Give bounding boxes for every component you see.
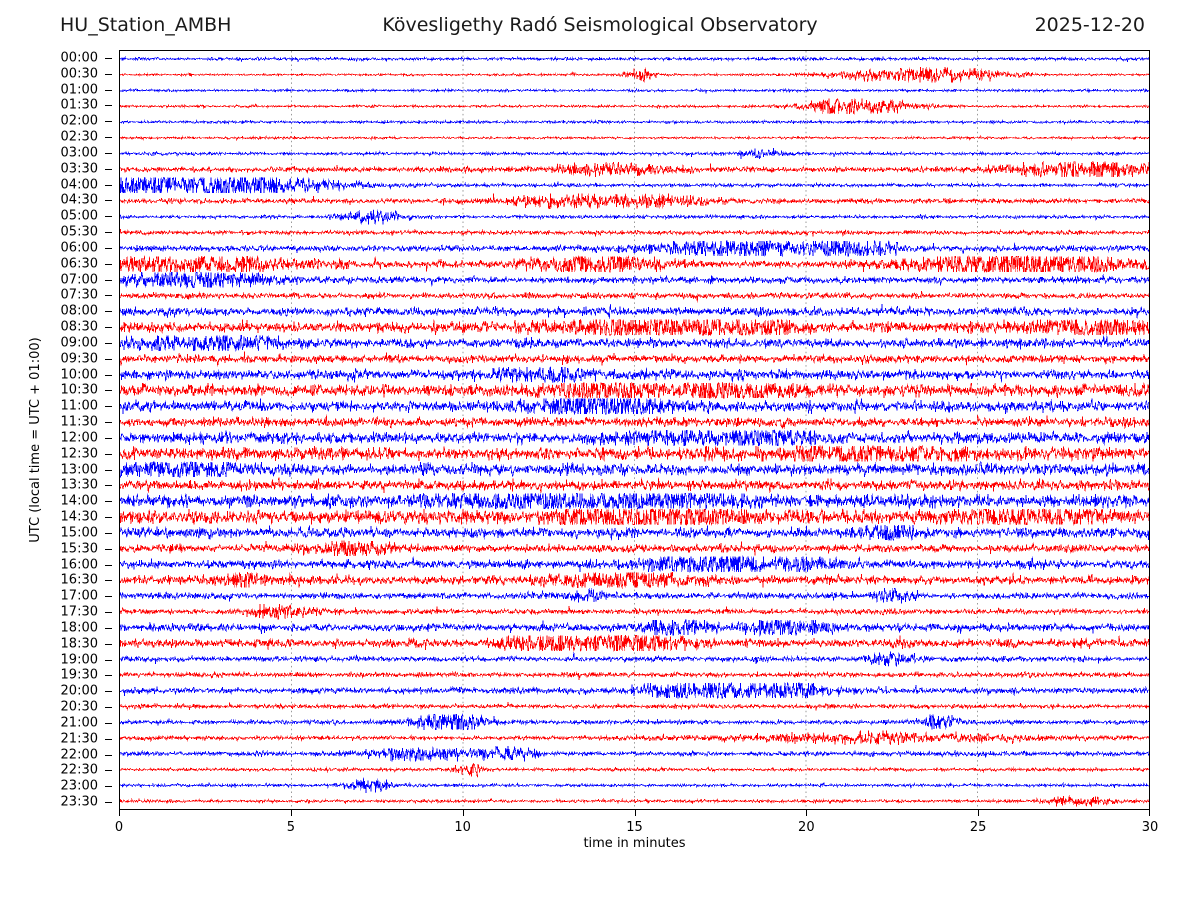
y-axis-tick-labels: 00:0000:3001:0001:3002:0002:3003:0003:30… [0,50,112,810]
x-tick-label: 15 [626,820,643,835]
seismic-trace [120,88,1149,93]
y-tick-label: 06:00 [61,241,98,254]
seismic-trace [120,178,1149,193]
y-tick-mark [105,375,112,376]
y-tick-mark [105,580,112,581]
seismic-trace [120,651,1149,666]
y-tick-mark [105,58,112,59]
y-tick-label: 17:00 [61,590,98,603]
x-tick-label: 10 [454,820,471,835]
y-tick-label: 01:30 [61,99,98,112]
y-tick-label: 03:00 [61,146,98,159]
y-tick-label: 19:00 [61,653,98,666]
y-tick-label: 05:30 [61,226,98,239]
y-tick-mark [105,454,112,455]
y-tick-label: 22:30 [61,764,98,777]
y-tick-label: 23:30 [61,796,98,809]
x-tick-label: 30 [1142,820,1159,835]
seismic-trace [120,462,1149,477]
y-tick-mark [105,74,112,75]
y-tick-label: 23:00 [61,780,98,793]
y-tick-label: 14:00 [61,495,98,508]
y-tick-mark [105,232,112,233]
x-tick-mark [806,810,807,816]
y-tick-mark [105,137,112,138]
seismic-trace [120,764,1149,777]
seismic-trace [120,57,1149,62]
x-tick-label: 0 [115,820,123,835]
y-tick-mark [105,295,112,296]
y-tick-label: 09:30 [61,352,98,365]
y-tick-mark [105,612,112,613]
y-tick-label: 09:00 [61,336,98,349]
y-tick-mark [105,739,112,740]
y-tick-label: 07:00 [61,273,98,286]
seismic-trace [120,572,1149,587]
y-tick-mark [105,343,112,344]
y-tick-label: 06:30 [61,257,98,270]
y-tick-mark [105,596,112,597]
seismic-trace [120,383,1149,398]
y-tick-label: 14:30 [61,511,98,524]
seismic-trace [120,683,1149,698]
y-tick-mark [105,280,112,281]
y-tick-mark [105,248,112,249]
y-tick-mark [105,755,112,756]
y-tick-mark [105,707,112,708]
seismic-trace [120,209,1149,224]
y-tick-mark [105,185,112,186]
seismic-trace [120,291,1149,302]
x-tick-label: 5 [287,820,295,835]
seismic-trace [120,730,1149,745]
seismic-trace [120,778,1149,793]
y-axis-title: UTC (local time = UTC + 01:00) [26,60,46,820]
seismic-trace [120,746,1149,761]
x-tick-mark [463,810,464,816]
y-tick-mark [105,153,112,154]
x-tick-mark [978,810,979,816]
seismic-trace [120,620,1149,635]
y-tick-label: 13:30 [61,479,98,492]
y-tick-mark [105,406,112,407]
y-tick-mark [105,390,112,391]
y-tick-label: 18:00 [61,621,98,634]
seismic-trace [120,493,1149,508]
seismic-trace [120,636,1149,651]
seismic-trace [120,162,1149,177]
seismic-trace [120,702,1149,710]
seismic-trace [120,193,1149,208]
seismic-trace [120,148,1149,159]
seismic-trace [120,588,1149,603]
y-tick-label: 11:00 [61,400,98,413]
y-tick-mark [105,105,112,106]
y-tick-label: 08:30 [61,321,98,334]
y-tick-label: 01:00 [61,83,98,96]
seismic-trace [120,715,1149,730]
seismic-trace [120,120,1149,124]
y-tick-label: 22:00 [61,748,98,761]
y-tick-label: 05:00 [61,210,98,223]
x-axis-title: time in minutes [119,836,1150,851]
y-tick-label: 10:30 [61,384,98,397]
y-tick-label: 15:00 [61,526,98,539]
y-tick-label: 12:00 [61,431,98,444]
y-tick-label: 00:30 [61,67,98,80]
seismic-trace [120,272,1149,287]
seismic-trace [120,367,1149,382]
y-tick-label: 07:30 [61,289,98,302]
seismic-trace [120,399,1149,414]
y-tick-label: 08:00 [61,305,98,318]
date-label: 2025-12-20 [0,12,1200,38]
seismic-trace [120,541,1149,556]
y-tick-mark [105,200,112,201]
y-tick-mark [105,264,112,265]
seismic-trace [120,257,1149,272]
y-tick-mark [105,216,112,217]
y-tick-mark [105,628,112,629]
y-tick-label: 21:30 [61,732,98,745]
y-tick-mark [105,691,112,692]
y-tick-label: 11:30 [61,416,98,429]
y-tick-mark [105,90,112,91]
seismic-trace [120,430,1149,445]
seismic-trace [120,604,1149,619]
y-tick-mark [105,121,112,122]
y-tick-mark [105,565,112,566]
y-tick-mark [105,723,112,724]
seismic-trace [120,446,1149,461]
seismic-traces [120,51,1149,809]
y-tick-mark [105,327,112,328]
seismic-trace [120,336,1149,351]
x-tick-mark [1149,810,1150,816]
y-tick-mark [105,533,112,534]
y-tick-label: 21:00 [61,716,98,729]
x-tick-label: 25 [970,820,987,835]
seismic-trace [120,241,1149,256]
x-tick-mark [635,810,636,816]
y-tick-label: 04:30 [61,194,98,207]
seismic-trace [120,478,1149,493]
y-tick-label: 04:00 [61,178,98,191]
seismic-trace [120,67,1149,82]
y-tick-label: 00:00 [61,51,98,64]
y-tick-mark [105,644,112,645]
y-tick-mark [105,802,112,803]
y-tick-mark [105,470,112,471]
y-tick-label: 02:30 [61,131,98,144]
y-tick-mark [105,169,112,170]
x-tick-mark [291,810,292,816]
y-tick-mark [105,660,112,661]
y-tick-label: 10:00 [61,368,98,381]
seismic-trace [120,351,1149,366]
seismic-trace [120,509,1149,524]
y-tick-mark [105,438,112,439]
y-tick-label: 03:30 [61,162,98,175]
y-tick-mark [105,517,112,518]
seismic-trace [120,320,1149,335]
seismic-trace [120,557,1149,572]
y-tick-mark [105,549,112,550]
y-tick-mark [105,786,112,787]
y-tick-label: 15:30 [61,542,98,555]
seismogram-plot-area[interactable] [119,50,1150,810]
seismic-trace [120,229,1149,236]
y-tick-label: 16:30 [61,574,98,587]
seismic-trace [120,415,1149,430]
seismic-trace [120,795,1149,806]
y-tick-mark [105,359,112,360]
y-tick-label: 16:00 [61,558,98,571]
seismic-trace [120,671,1149,679]
y-tick-mark [105,675,112,676]
seismogram-figure: HU_Station_AMBH Kövesligethy Radó Seismo… [0,0,1200,900]
y-tick-mark [105,485,112,486]
x-tick-mark [119,810,120,816]
y-tick-label: 02:00 [61,115,98,128]
y-tick-label: 13:00 [61,463,98,476]
y-tick-label: 20:00 [61,685,98,698]
y-tick-label: 19:30 [61,669,98,682]
seismic-trace [120,525,1149,540]
y-tick-mark [105,311,112,312]
seismic-trace [120,99,1149,114]
seismic-trace [120,136,1149,140]
y-tick-mark [105,770,112,771]
seismic-trace [120,304,1149,319]
x-tick-label: 20 [798,820,815,835]
y-tick-label: 20:30 [61,701,98,714]
y-tick-label: 18:30 [61,637,98,650]
y-tick-label: 12:30 [61,447,98,460]
y-tick-mark [105,422,112,423]
y-tick-mark [105,501,112,502]
y-tick-label: 17:30 [61,606,98,619]
